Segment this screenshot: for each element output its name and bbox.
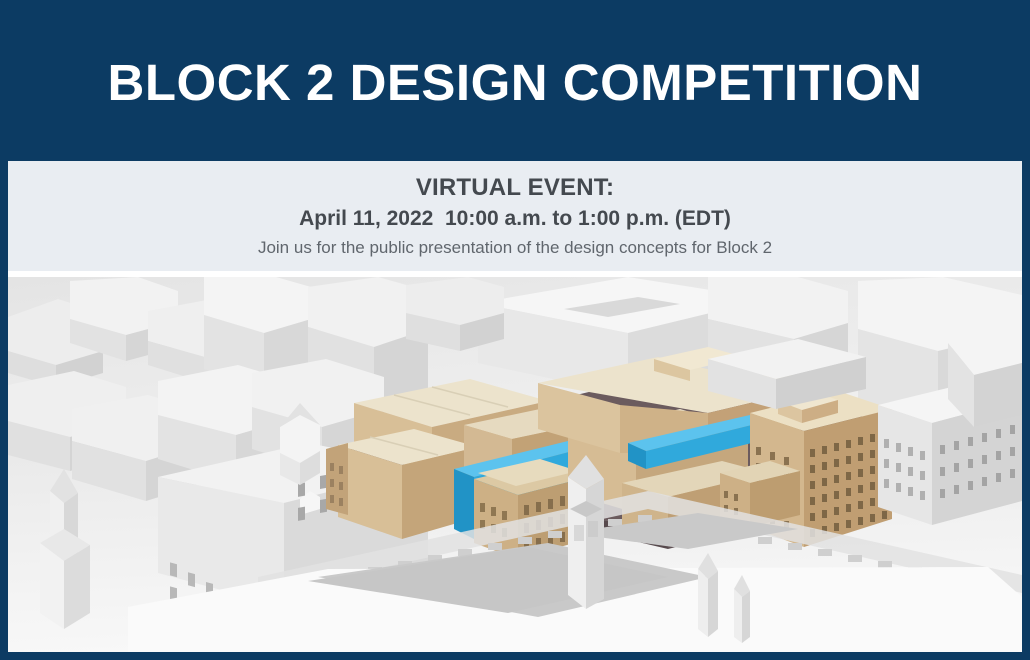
header-band: BLOCK 2 DESIGN COMPETITION — [0, 0, 1030, 161]
event-info-band: VIRTUAL EVENT: April 11, 2022 10:00 a.m.… — [8, 161, 1022, 271]
massing-rendering — [8, 277, 1022, 652]
page-title: BLOCK 2 DESIGN COMPETITION — [108, 57, 923, 108]
event-poster: BLOCK 2 DESIGN COMPETITION VIRTUAL EVENT… — [0, 0, 1030, 660]
event-subtitle: Join us for the public presentation of t… — [8, 236, 1022, 260]
event-type-heading: VIRTUAL EVENT: — [8, 173, 1022, 203]
event-datetime: April 11, 2022 10:00 a.m. to 1:00 p.m. (… — [8, 205, 1022, 233]
massing-rendering-svg — [8, 277, 1022, 652]
